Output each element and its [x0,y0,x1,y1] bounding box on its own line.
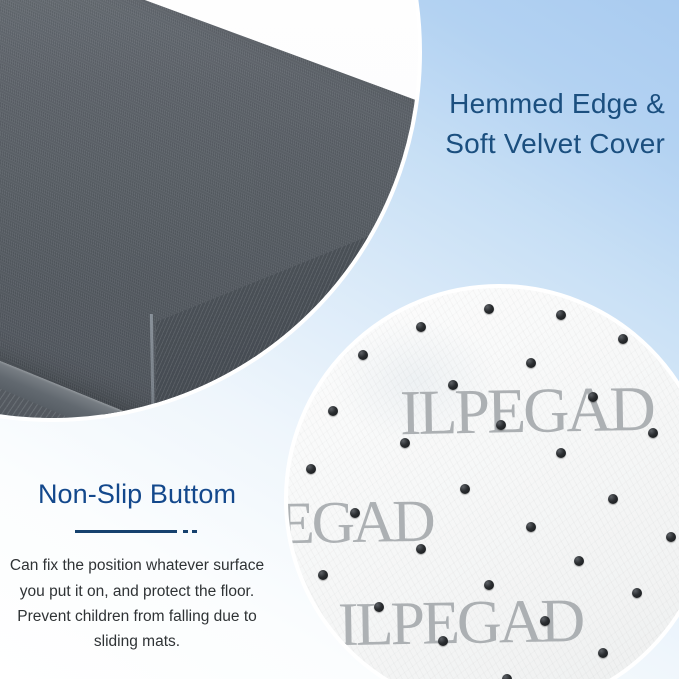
headline: Hemmed Edge & Soft Velvet Cover [335,84,665,165]
anti-slip-dot [632,588,642,598]
anti-slip-dot [484,580,494,590]
product-feature-poster: ILPEGAD EGAD ILPEGAD [0,0,679,679]
mat-surface: ILPEGAD EGAD ILPEGAD [288,288,679,679]
anti-slip-dot [350,508,360,518]
anti-slip-dot [608,494,618,504]
anti-slip-dot [318,570,328,580]
anti-slip-dot [618,334,628,344]
divider-bar [75,530,177,533]
anti-slip-dot [588,392,598,402]
anti-slip-dot [460,484,470,494]
non-slip-mat-photo-circle: ILPEGAD EGAD ILPEGAD [284,284,679,679]
anti-slip-dot [374,602,384,612]
anti-slip-dot [306,464,316,474]
anti-slip-dot [540,616,550,626]
anti-slip-dot [484,304,494,314]
anti-slip-dot [358,350,368,360]
anti-slip-dot [648,428,658,438]
divider-dash [192,530,197,533]
feature-description-line: Can fix the position whatever surface [8,553,266,578]
anti-slip-dot [496,420,506,430]
anti-slip-dot [438,636,448,646]
anti-slip-dot [416,544,426,554]
divider-dash [183,530,188,533]
anti-slip-dot [526,358,536,368]
anti-slip-dot [416,322,426,332]
anti-slip-dot [400,438,410,448]
anti-slip-dot [448,380,458,390]
mat-watermark-logo: ILPEGAD [399,372,653,450]
feature-description: Can fix the position whatever surface yo… [8,553,266,653]
feature-block: Non-Slip Buttom Can fix the position wha… [8,478,266,654]
feature-title: Non-Slip Buttom [8,478,266,510]
anti-slip-dot [666,532,676,542]
anti-slip-dot [574,556,584,566]
headline-line-2: Soft Velvet Cover [335,124,665,164]
anti-slip-dot [598,648,608,658]
anti-slip-dot [526,522,536,532]
feature-divider [75,527,199,537]
anti-slip-dot [344,654,354,664]
headline-line-1: Hemmed Edge & [335,84,665,124]
feature-description-line: you put it on, and protect the floor. [8,579,266,604]
anti-slip-dot [556,310,566,320]
anti-slip-dot [328,406,338,416]
feature-description-line: Prevent children from falling due to [8,604,266,629]
anti-slip-dot [502,674,512,679]
anti-slip-dot [556,448,566,458]
anti-slip-dot [674,372,679,382]
mat-watermark-logo: EGAD [284,487,433,559]
feature-description-line: sliding mats. [8,629,266,654]
